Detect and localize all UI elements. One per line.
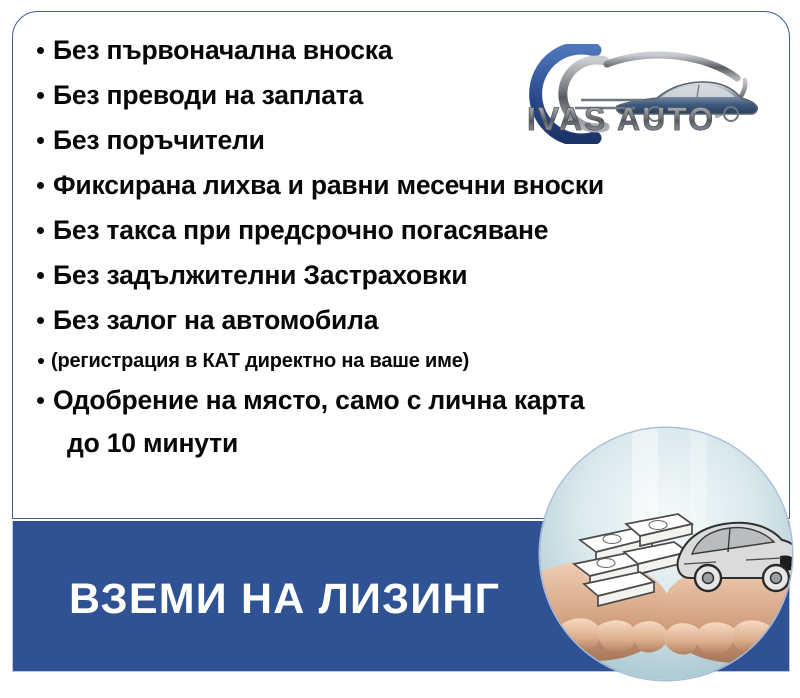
- benefit-note-text: (регистрация в КАТ директно на ваше име): [51, 343, 797, 379]
- bullet-dot-icon: [37, 182, 44, 189]
- bullet-dot-icon: [37, 227, 44, 234]
- benefit-text: Без задължителни Застраховки: [53, 253, 797, 298]
- list-item-note: (регистрация в КАТ директно на ваше име): [27, 343, 797, 379]
- benefit-text: Без залог на автомобила: [53, 298, 797, 343]
- logo-wordmark: IVAS AUTO: [527, 101, 715, 137]
- list-item: Без задължителни Застраховки: [27, 253, 797, 298]
- list-item: Без такса при предсрочно погасяване: [27, 208, 797, 253]
- banner-title: ВЗЕМИ НА ЛИЗИНГ: [69, 575, 500, 624]
- logo-sweep-arc: [607, 55, 737, 78]
- leasing-offer-poster: Без първоначална вноска Без преводи на з…: [0, 0, 800, 698]
- benefit-text: Фиксирана лихва и равни месечни вноски: [53, 163, 797, 208]
- list-item: Фиксирана лихва и равни месечни вноски: [27, 163, 797, 208]
- bullet-dot-icon: [37, 47, 44, 54]
- benefit-text: Без такса при предсрочно погасяване: [53, 208, 797, 253]
- bullet-dot-icon: [37, 317, 44, 324]
- bullet-dot-icon: [37, 272, 44, 279]
- bullet-dot-icon: [37, 397, 44, 404]
- bullet-dot-icon: [37, 92, 44, 99]
- list-item: Без залог на автомобила: [27, 298, 797, 343]
- bullet-dot-icon: [38, 358, 44, 364]
- hands-money-car-photo: [540, 428, 792, 680]
- benefit-text: Одобрение на място, само с лична карта: [53, 379, 797, 422]
- ivas-auto-logo: IVAS AUTO: [509, 44, 765, 144]
- bullet-dot-icon: [37, 137, 44, 144]
